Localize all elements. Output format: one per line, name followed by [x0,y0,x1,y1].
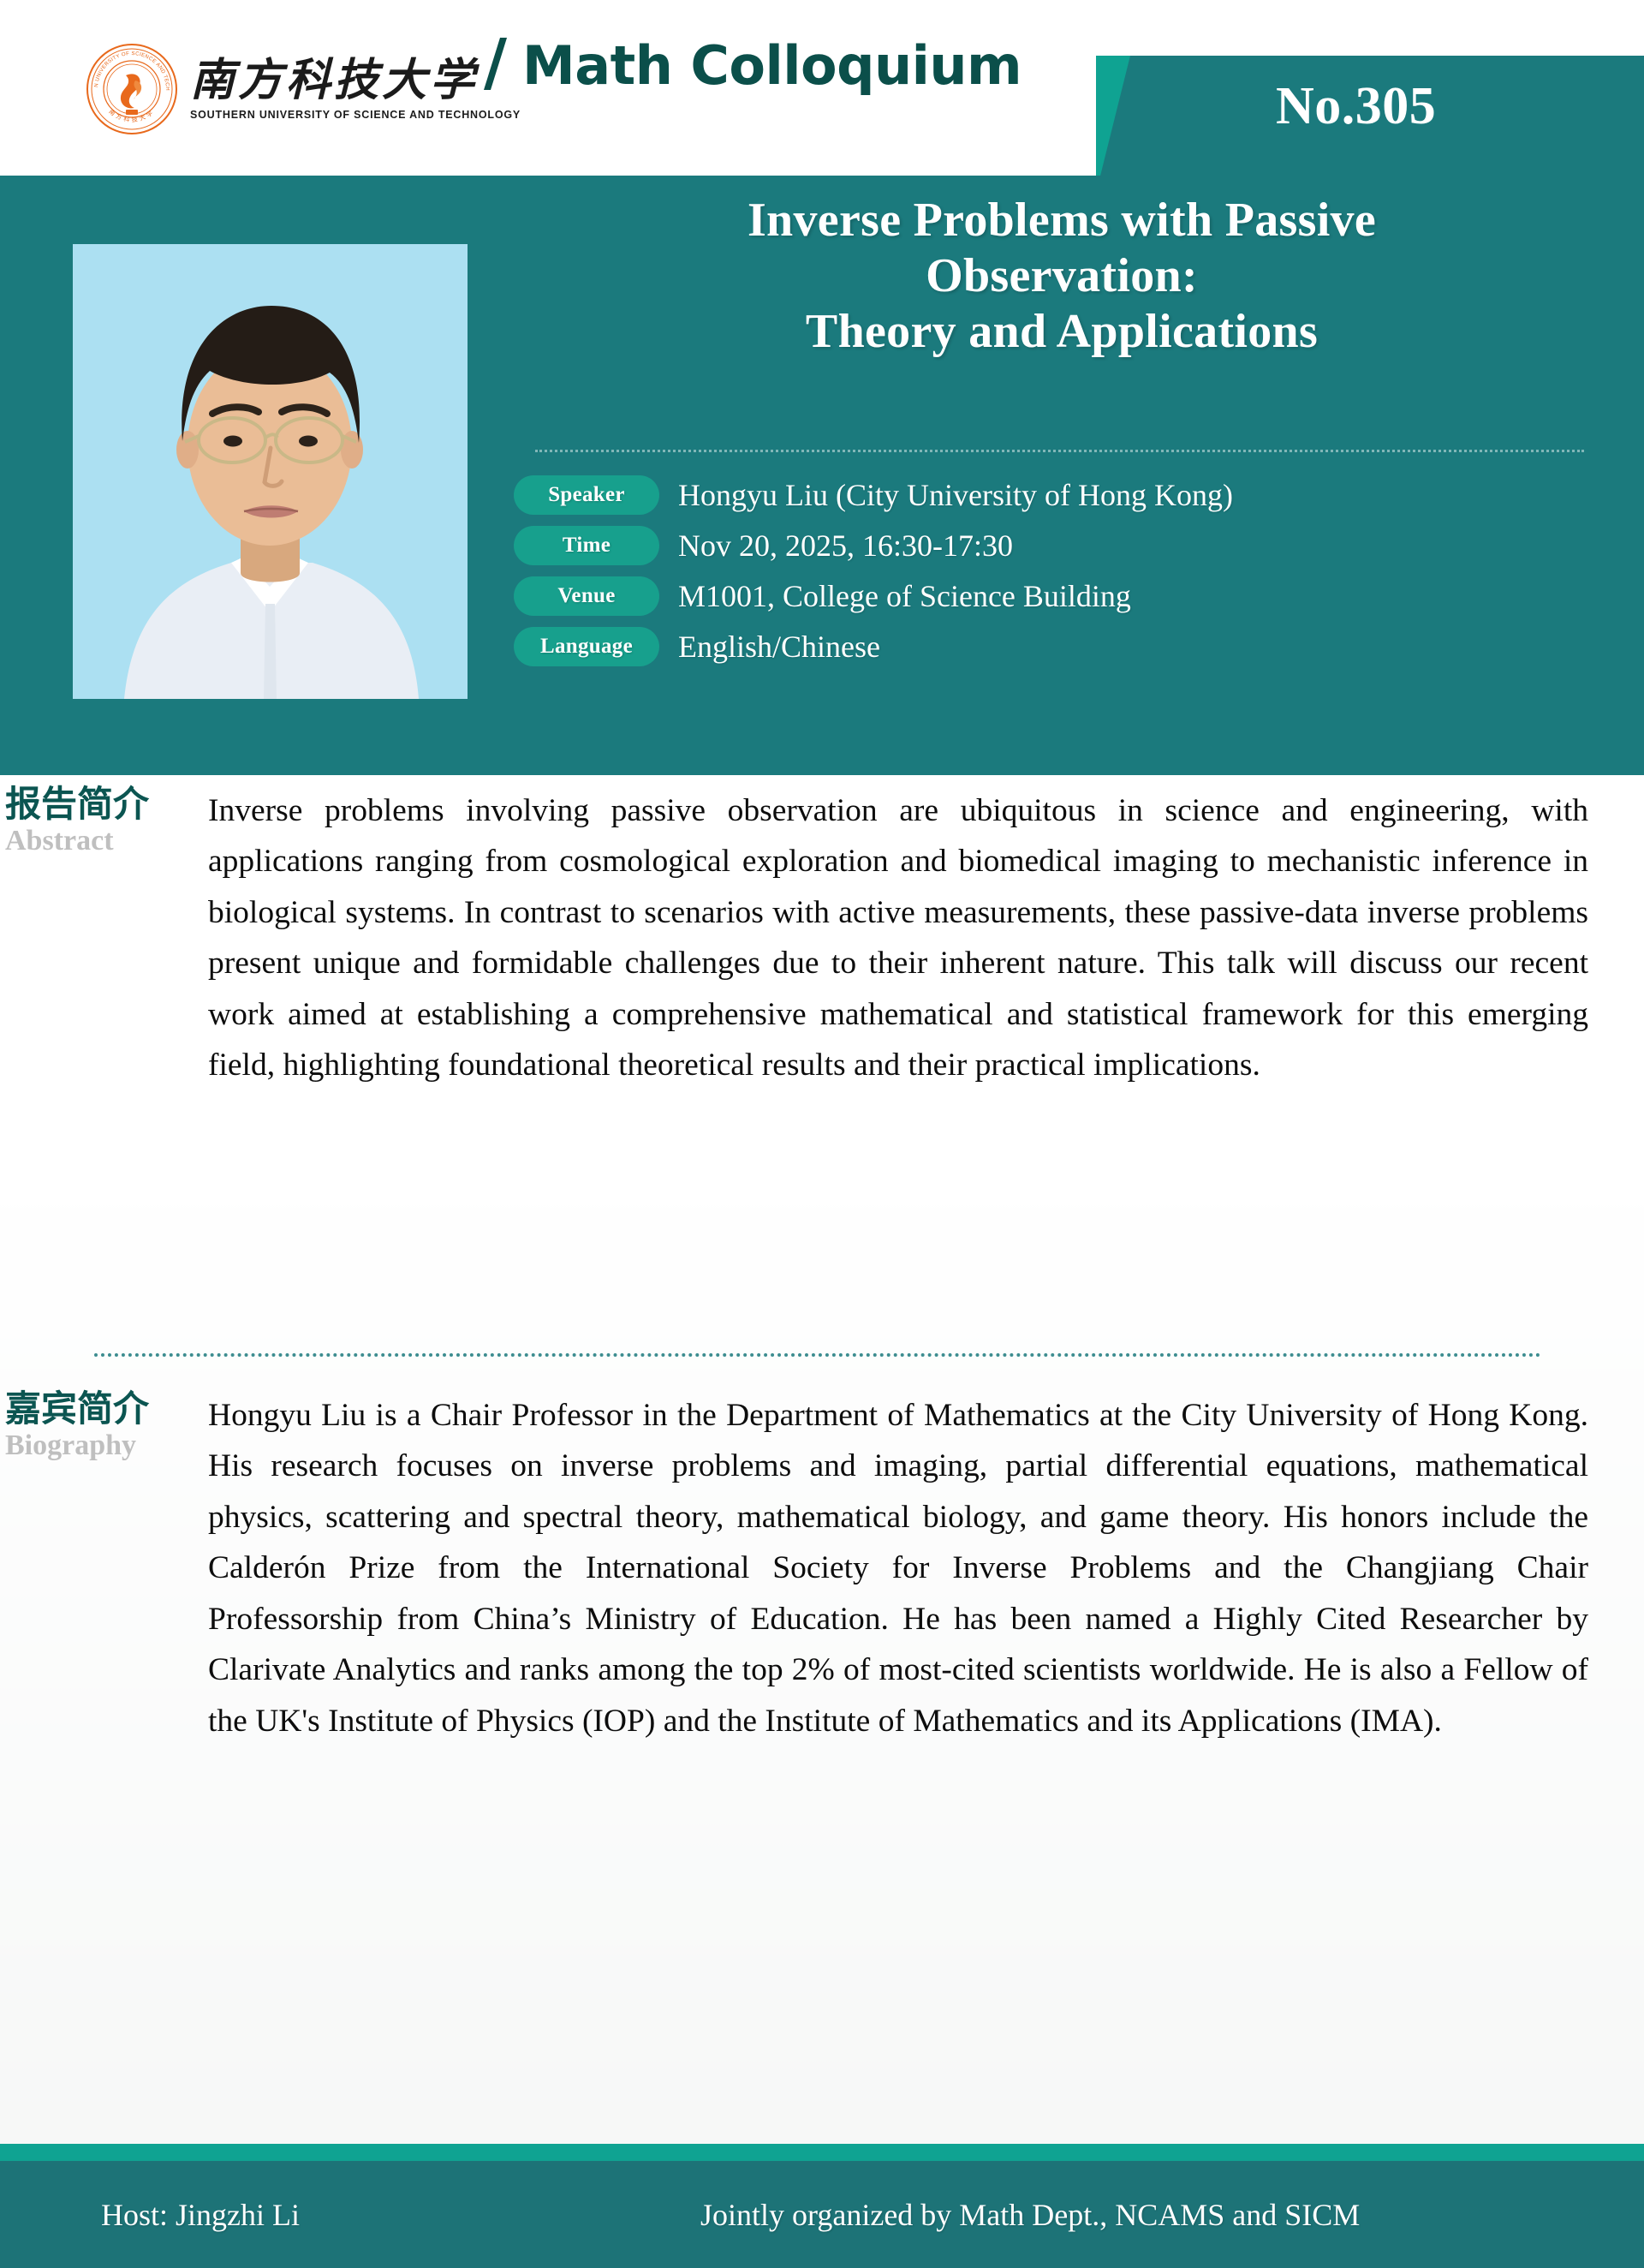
meta-value-venue: M1001, College of Science Building [678,581,1131,612]
meta-value-time: Nov 20, 2025, 16:30-17:30 [678,530,1013,561]
hero-divider [535,450,1584,452]
abstract-label: 报告简介 Abstract [5,785,202,856]
meta-row-language: Language English/Chinese [514,627,1627,666]
biography-text: Hongyu Liu is a Chair Professor in the D… [208,1390,1588,1746]
speaker-portrait-illustration [73,244,468,699]
footer-accent-stripe [0,2144,1644,2161]
biography-label-en: Biography [5,1429,202,1461]
issue-number-banner: No.305 [1096,56,1644,176]
title-separator-slash: / [484,31,507,94]
university-name-en: SOUTHERN UNIVERSITY OF SCIENCE AND TECHN… [190,109,521,121]
speaker-photo [73,244,468,699]
university-logo: SOUTHERN UNIVERSITY OF SCIENCE AND TECHN… [86,43,521,135]
issue-number: No.305 [1276,76,1436,137]
meta-label-venue: Venue [514,576,659,616]
meta-label-speaker: Speaker [514,475,659,515]
meta-row-venue: Venue M1001, College of Science Building [514,576,1627,616]
page-footer: Host: Jingzhi Li Jointly organized by Ma… [0,2161,1644,2268]
biography-label: 嘉宾简介 Biography [5,1390,202,1461]
abstract-label-cn: 报告简介 [5,785,202,823]
meta-row-speaker: Speaker Hongyu Liu (City University of H… [514,475,1627,515]
meta-value-language: English/Chinese [678,631,880,662]
university-name-block: 南方科技大学 SOUTHERN UNIVERSITY OF SCIENCE AN… [190,57,521,122]
footer-host: Host: Jingzhi Li [101,2197,300,2233]
colloquium-title-group: / Math Colloquium [484,31,1022,94]
meta-label-time: Time [514,526,659,565]
footer-organizers: Jointly organized by Math Dept., NCAMS a… [700,2197,1360,2233]
talk-meta-list: Speaker Hongyu Liu (City University of H… [514,475,1627,677]
university-name-cn: 南方科技大学 [190,57,521,104]
abstract-text: Inverse problems involving passive obser… [208,785,1588,1091]
talk-title-line-2: Observation: [505,248,1618,304]
section-divider [94,1353,1541,1357]
meta-label-language: Language [514,627,659,666]
meta-row-time: Time Nov 20, 2025, 16:30-17:30 [514,526,1627,565]
series-title: Math Colloquium [522,39,1022,93]
talk-title: Inverse Problems with Passive Observatio… [505,193,1618,360]
sustech-seal-icon: SOUTHERN UNIVERSITY OF SCIENCE AND TECHN… [86,43,178,135]
talk-title-line-3: Theory and Applications [505,304,1618,360]
talk-title-line-1: Inverse Problems with Passive [505,193,1618,248]
content-area: 南方科技大学 报告简介 Abstract Inverse problems in… [0,775,1644,2144]
hero-section: Inverse Problems with Passive Observatio… [0,176,1644,775]
meta-value-speaker: Hongyu Liu (City University of Hong Kong… [678,480,1233,510]
page-header: SOUTHERN UNIVERSITY OF SCIENCE AND TECHN… [0,0,1644,176]
abstract-label-en: Abstract [5,825,202,856]
biography-label-cn: 嘉宾简介 [5,1390,202,1428]
